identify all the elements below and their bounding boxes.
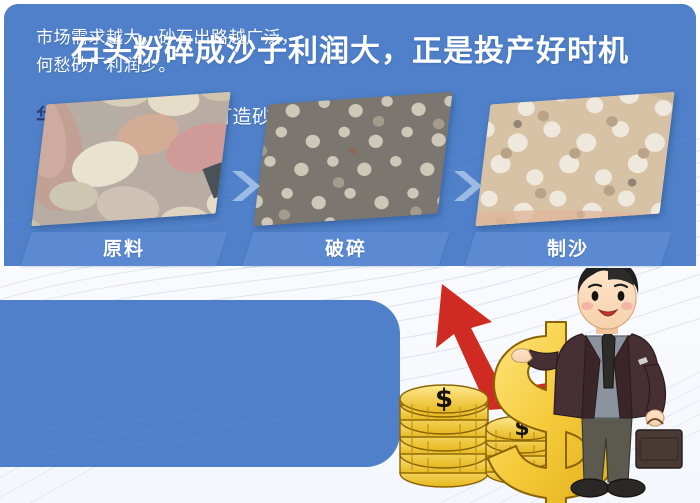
- process-step-raw-material[interactable]: 原料: [40, 98, 222, 226]
- process-step-sand-making[interactable]: 制沙: [484, 98, 666, 226]
- raw-material-photo: [31, 92, 230, 226]
- coin-dollar-glyph: $: [435, 384, 453, 414]
- step-label-sand-making: 制沙: [464, 232, 671, 266]
- gold-coin-stack: $: [400, 384, 488, 487]
- step-label-raw-material: 原料: [20, 232, 227, 266]
- process-step-crushing[interactable]: 破碎: [262, 98, 444, 226]
- sand-making-photo: [475, 92, 674, 226]
- chevron-right-icon-2: [450, 168, 484, 204]
- promo-text-panel: [0, 300, 400, 467]
- illustration-group: $ $: [370, 268, 700, 503]
- step-label-crushing: 破碎: [242, 232, 449, 266]
- step-label-text: 破碎: [248, 232, 444, 266]
- crushing-photo: [253, 92, 452, 226]
- page-title: 石头粉碎成沙子利润大，正是投产好时机: [0, 26, 700, 70]
- panel-wave-texture: [0, 300, 400, 467]
- poster-canvas: 石头粉碎成沙子利润大，正是投产好时机: [0, 0, 700, 503]
- step-label-text: 制沙: [470, 232, 666, 266]
- step-label-text: 原料: [26, 232, 222, 266]
- chevron-right-icon-1: [228, 168, 262, 204]
